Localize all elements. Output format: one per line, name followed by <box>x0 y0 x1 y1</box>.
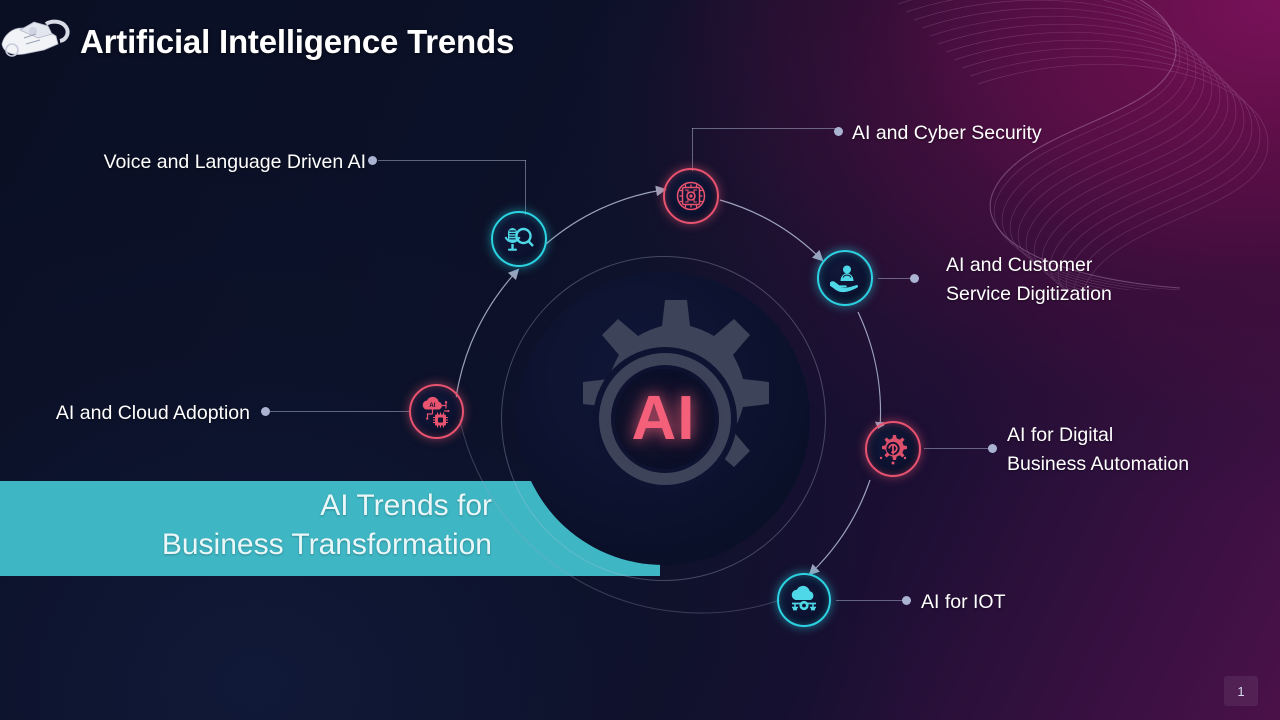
node-digital-automation[interactable] <box>865 421 921 477</box>
label-iot: AI for IOT <box>921 588 1161 617</box>
connector-dot-automation <box>988 444 997 453</box>
connector-automation-horizontal <box>924 448 990 449</box>
connector-voice-horizontal <box>378 160 526 161</box>
cloud-iot-icon <box>787 583 821 617</box>
label-digital-automation: AI for Digital Business Automation <box>1007 421 1280 479</box>
svg-text:AI: AI <box>429 402 435 409</box>
label-cloud-adoption: AI and Cloud Adoption <box>10 399 250 428</box>
hand-person-icon <box>828 261 862 295</box>
banner-title: AI Trends for Business Transformation <box>0 486 492 564</box>
gear-automation-icon <box>876 432 910 466</box>
node-customer-service[interactable] <box>817 250 873 306</box>
connector-iot-horizontal <box>836 600 906 601</box>
banner-line-2: Business Transformation <box>0 525 492 564</box>
node-cloud-adoption[interactable]: AI <box>409 384 464 439</box>
connector-cyber-horizontal <box>692 128 838 129</box>
label-cyber-security: AI and Cyber Security <box>852 119 1152 148</box>
ai-cloud-chip-icon: AI <box>420 395 454 429</box>
connector-dot-customer <box>910 274 919 283</box>
connector-customer-horizontal <box>878 278 914 279</box>
connector-cloud-horizontal <box>270 411 410 412</box>
label-voice-language: Voice and Language Driven AI <box>70 148 366 177</box>
microphone-search-icon <box>502 222 536 256</box>
robot-hand-icon <box>0 14 74 66</box>
slide-canvas: Artificial Intelligence Trends AI Trends… <box>0 0 1280 720</box>
page-title: Artificial Intelligence Trends <box>80 23 514 61</box>
connector-dot-iot <box>902 596 911 605</box>
connector-voice-vertical <box>525 160 526 216</box>
connector-dot-cyber <box>834 127 843 136</box>
connector-dot-cloud <box>261 407 270 416</box>
banner-line-1: AI Trends for <box>0 486 492 525</box>
node-iot[interactable] <box>777 573 831 627</box>
connector-cyber-vertical <box>692 128 693 172</box>
security-chip-icon <box>674 179 708 213</box>
hub-center-label: AI <box>517 272 810 565</box>
label-customer-service: AI and Customer Service Digitization <box>946 251 1246 309</box>
node-voice-language[interactable] <box>491 211 547 267</box>
page-number: 1 <box>1224 676 1258 706</box>
node-cyber-security[interactable] <box>663 168 719 224</box>
connector-dot-voice <box>368 156 377 165</box>
